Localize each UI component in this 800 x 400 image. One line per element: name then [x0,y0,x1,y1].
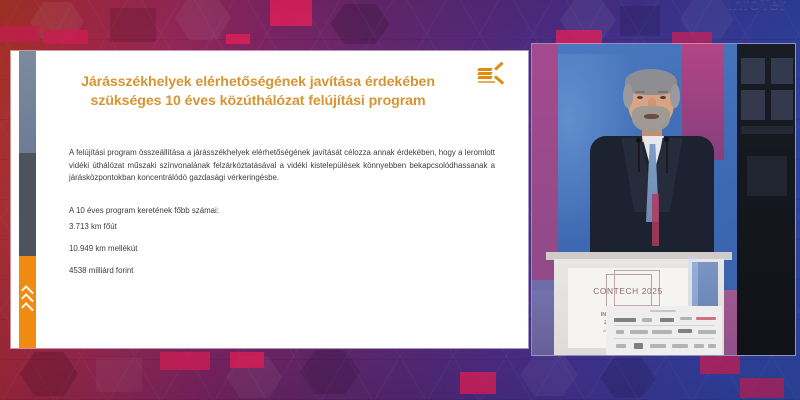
slide-numbers-heading: A 10 éves program keretének főbb számai: [69,206,219,215]
rail-segment-blue-gray [19,51,36,153]
microphone-stem-right [666,141,668,173]
slide-side-rail [19,51,36,348]
speaker-lanyard [652,194,659,246]
microphone-stem-left [638,142,640,172]
speaker-hair [625,69,677,95]
chevron-up-icon-group [19,286,36,313]
slide-title-line-1: Járásszékhelyek elérhetőségének javítása… [81,74,435,90]
magyar-kozut-logo-icon [476,68,510,90]
infoter-logo: InfoTer [728,0,786,14]
infoter-logo-text: InfoTer [728,0,786,13]
screenshot-root: InfoTer [0,0,800,400]
speaker-video-feed: CONTECH 2025 INFOTER CONTECH 2025 Konfer… [532,44,795,355]
list-item: 4538 milliárd forint [69,267,137,275]
rail-segment-dark-gray [19,153,36,256]
presentation-slide: Járásszékhelyek elérhetőségének javítása… [11,51,528,348]
slide-numbers-list: 3.713 km főút 10.949 km mellékút 4538 mi… [69,223,137,289]
speaker-brow-right [658,91,668,93]
sponsor-logo-board [606,306,722,355]
podium-event-title: CONTECH 2025 [568,286,688,296]
slide-title-line-2: szükséges 10 éves közúthálózat felújítás… [50,92,466,111]
speaker-hair-left [623,84,633,108]
speaker-eye-right [660,96,666,99]
speaker-beard [632,106,670,132]
list-item: 10.949 km mellékút [69,245,137,253]
speaker-eye-left [637,96,643,99]
chevron-up-icon [21,302,34,315]
list-item: 3.713 km főút [69,223,137,231]
slide-title: Járásszékhelyek elérhetőségének javítása… [50,73,466,110]
speaker-mouth [644,114,659,119]
slide-paragraph: A felújítási program összeállítása a jár… [69,147,495,185]
speaker-brow-left [635,91,645,93]
speaker-hair-right [670,84,680,108]
slide-content: Járásszékhelyek elérhetőségének javítása… [44,51,528,348]
stage-dark-right [737,44,795,355]
